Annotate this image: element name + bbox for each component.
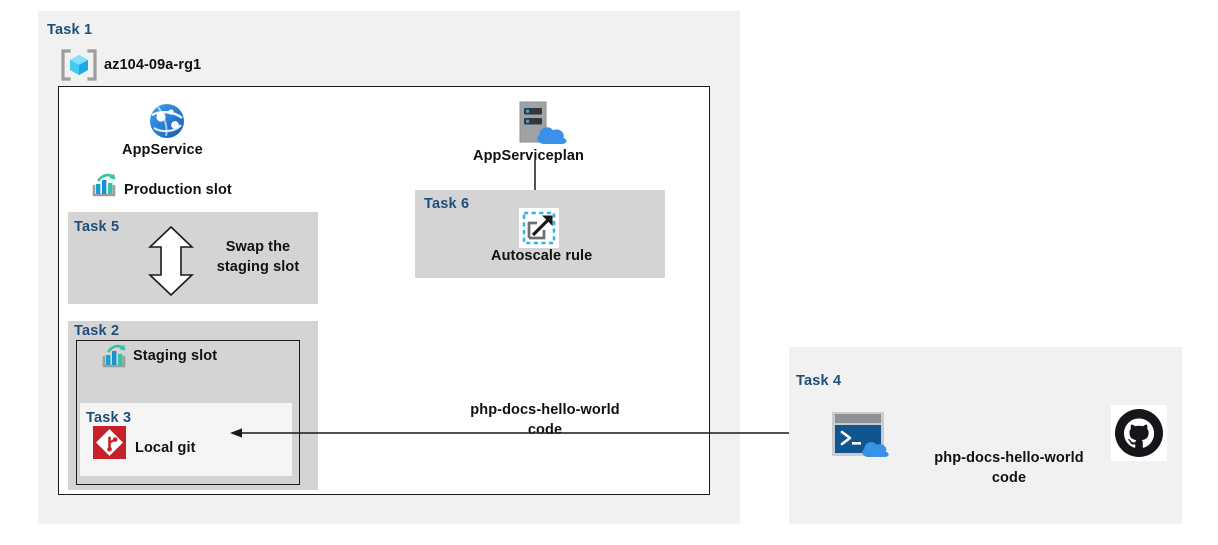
task5-label: Task 5 (74, 219, 119, 235)
git-icon (93, 426, 126, 459)
resource-group-name: az104-09a-rg1 (104, 57, 201, 73)
autoscale-icon (519, 208, 559, 248)
task4-label: Task 4 (796, 373, 841, 389)
github-flow-label-line1: php-docs-hello-world (934, 450, 1083, 466)
app-service-plan-icon (512, 100, 572, 146)
task3-label: Task 3 (86, 410, 131, 426)
app-service-globe-icon (147, 101, 187, 141)
task6-label: Task 6 (424, 196, 469, 212)
swap-double-arrow-icon (144, 225, 198, 297)
swap-action-label: Swap the staging slot (203, 238, 313, 277)
production-slot-label: Production slot (124, 182, 232, 198)
task2-label: Task 2 (74, 323, 119, 339)
connector-cloudshell-to-localgit (228, 421, 836, 445)
autoscale-rule-label: Autoscale rule (491, 248, 592, 264)
github-to-cloudshell-label: php-docs-hello-world code (916, 449, 1102, 488)
github-icon (1111, 405, 1167, 461)
diagram-canvas: Task 1 az104-09a-rg1 (0, 0, 1218, 545)
app-service-label: AppService (122, 142, 203, 158)
github-flow-label-line2: code (992, 470, 1026, 486)
deployment-slot-icon-staging (100, 344, 128, 370)
staging-slot-label: Staging slot (133, 348, 217, 364)
task1-label: Task 1 (47, 22, 92, 38)
resource-group-icon (60, 49, 98, 81)
cloud-shell-icon (831, 411, 901, 459)
deployment-slot-icon (90, 173, 118, 199)
flow-label-line1: php-docs-hello-world (470, 402, 619, 418)
local-git-label: Local git (135, 440, 196, 456)
